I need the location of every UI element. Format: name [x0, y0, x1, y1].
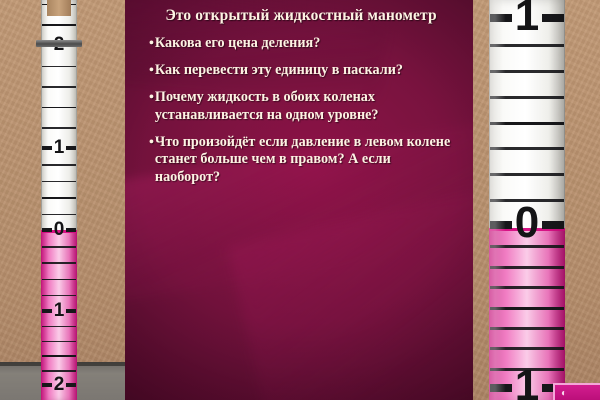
question-item: •Почему жидкость в обоих коленах устанав… [143, 89, 459, 125]
scale-minor-tick [42, 127, 76, 129]
scale-minor-tick [490, 173, 564, 176]
scale-minor-tick [490, 266, 564, 269]
scale-minor-tick [42, 181, 76, 183]
scale-minor-tick [490, 245, 564, 248]
question-text: Как перевести эту единицу в паскали? [155, 62, 459, 80]
scale-minor-tick [42, 262, 76, 264]
corner-badge[interactable]: ◐ [553, 383, 600, 400]
scale-number-label: 1 [41, 301, 77, 320]
panel-content: Это открытый жидкостный манометр •Какова… [125, 0, 473, 187]
scale-minor-tick [490, 96, 564, 99]
scale-minor-tick [42, 370, 76, 372]
scale-minor-tick [42, 24, 76, 26]
question-item: •Какова его цена деления? [143, 35, 459, 53]
scale-number-label: 0 [489, 201, 565, 245]
scale-minor-tick [490, 307, 564, 310]
question-text: Какова его цена деления? [155, 35, 459, 53]
manometer-left-tube: 21012 [41, 0, 77, 400]
scale-minor-tick [490, 327, 564, 330]
question-text: Почему жидкость в обоих коленах устанавл… [155, 89, 459, 125]
manometer-right-tube: 101 [489, 0, 565, 400]
scale-number-label: 1 [41, 138, 77, 157]
bullet-dot-icon: • [149, 134, 154, 152]
slide-root: 21012 101 Это открытый жидкостный маноме… [0, 0, 600, 400]
scale-number-label: 2 [41, 375, 77, 394]
scale-minor-tick [42, 295, 76, 297]
question-list: •Какова его цена деления?•Как перевести … [143, 35, 459, 187]
left-tube-clamp-upper [36, 40, 82, 47]
scale-minor-tick [42, 341, 76, 343]
scale-minor-tick [42, 355, 76, 357]
left-tube-support-rod [47, 0, 71, 16]
left-tube-scale-ticks: 21012 [41, 0, 77, 400]
scale-minor-tick [490, 122, 564, 125]
scale-minor-tick [490, 44, 564, 47]
question-text: Что произойдёт если давление в левом кол… [155, 134, 459, 188]
scale-minor-tick [42, 246, 76, 248]
scale-minor-tick [42, 197, 76, 199]
bullet-dot-icon: • [149, 62, 154, 80]
scale-minor-tick [42, 279, 76, 281]
scale-minor-tick [42, 86, 76, 88]
scale-minor-tick [42, 326, 76, 328]
right-tube-scale-ticks: 101 [489, 0, 565, 400]
corner-badge-glyph: ◐ [561, 388, 567, 399]
scale-minor-tick [42, 66, 76, 68]
text-panel: Это открытый жидкостный манометр •Какова… [125, 0, 473, 400]
scale-minor-tick [42, 164, 76, 166]
scale-minor-tick [490, 286, 564, 289]
scale-minor-tick [42, 107, 76, 109]
scale-minor-tick [490, 147, 564, 150]
scale-number-label: 1 [489, 0, 565, 38]
bullet-dot-icon: • [149, 89, 154, 107]
question-item: •Что произойдёт если давление в левом ко… [143, 134, 459, 188]
scale-minor-tick [490, 70, 564, 73]
question-item: •Как перевести эту единицу в паскали? [143, 62, 459, 80]
scale-minor-tick [490, 347, 564, 350]
scale-number-label: 0 [41, 220, 77, 239]
bullet-dot-icon: • [149, 35, 154, 53]
slide-title: Это открытый жидкостный манометр [149, 7, 453, 25]
scale-minor-tick [42, 214, 76, 216]
